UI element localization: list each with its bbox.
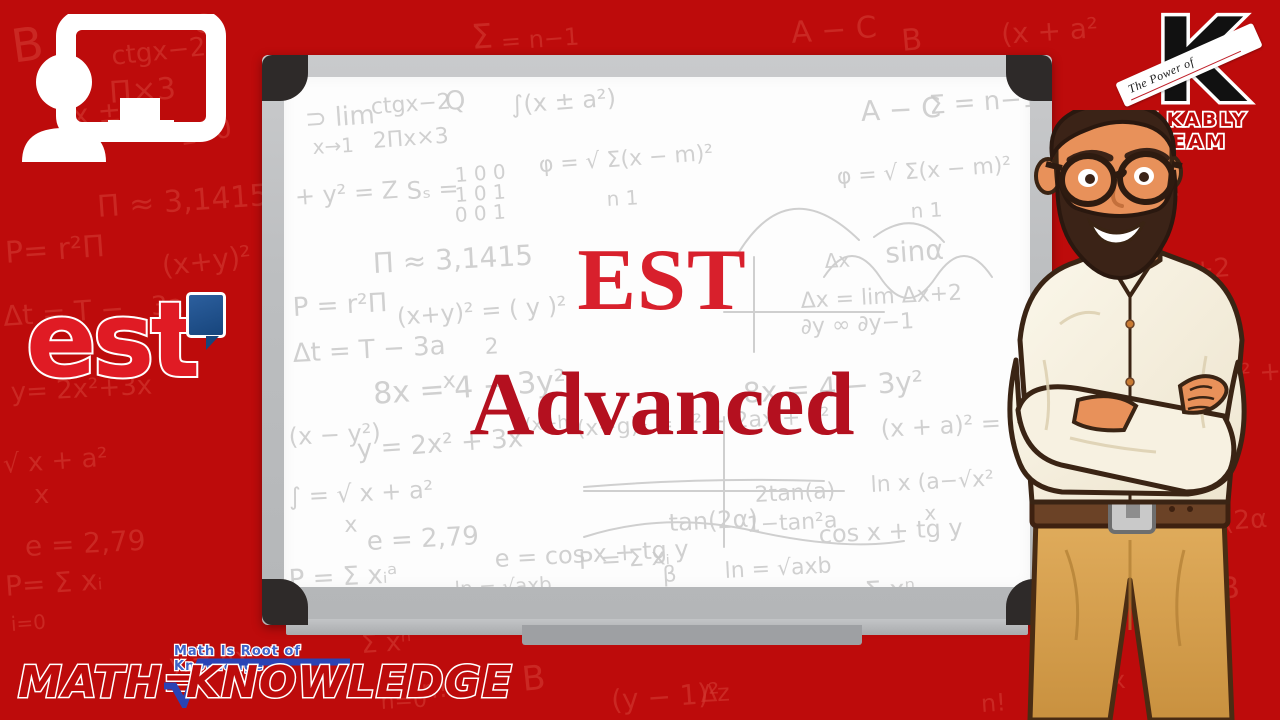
math-formula: P= r²Π — [4, 229, 106, 271]
math-formula: A − C — [790, 10, 878, 51]
whiteboard-surface: ⊃ limctgx−2Qx→12Πx×3+ y² = ZSₛ =1 0 01 0… — [284, 77, 1030, 587]
blue-speech-bubble-icon — [186, 292, 226, 338]
math-formula: P= Σ xᵢ — [4, 563, 103, 603]
math-formula: (y − 1)² — [610, 676, 721, 717]
head — [1036, 110, 1182, 278]
math-knowledge-logo: Math Is Root of Knowledge MATH= KNOWLEDG… — [14, 642, 354, 712]
math-formula: B — [900, 22, 924, 59]
whiteboard-graph-sketches — [284, 77, 1030, 587]
math-formula: Π ≈ 3,1415 — [96, 178, 270, 225]
math-formula: (x+y)² — [160, 239, 253, 283]
math-knowledge-right-text: KNOWLEDGE — [186, 660, 513, 706]
presentation-board-with-person-icon — [12, 14, 232, 174]
math-formula: x — [34, 480, 49, 510]
math-formula: = n−1 — [500, 23, 580, 56]
est-logo: est — [18, 286, 238, 406]
shirt — [1010, 244, 1244, 502]
math-formula: Δz — [700, 678, 730, 707]
whiteboard: ⊃ limctgx−2Qx→12Πx×3+ y² = ZSₛ =1 0 01 0… — [262, 55, 1052, 625]
math-formula: e = 2,79 — [24, 524, 146, 563]
math-formula: (x + a² — [1000, 11, 1099, 51]
promo-banner: Bctgx−2Π×3C(x ± a100Π ≈ 3,1415P= r²Π(x+y… — [0, 0, 1280, 720]
instructor-illustration — [974, 110, 1280, 720]
whiteboard-pen-tray-lower — [522, 625, 862, 645]
trousers — [1030, 518, 1232, 720]
math-formula: √ x + a² — [2, 443, 109, 480]
math-formula: i=0 — [10, 610, 47, 636]
est-logo-text: est — [26, 288, 196, 392]
math-formula: B — [520, 658, 547, 700]
math-formula: Σ — [470, 17, 494, 58]
